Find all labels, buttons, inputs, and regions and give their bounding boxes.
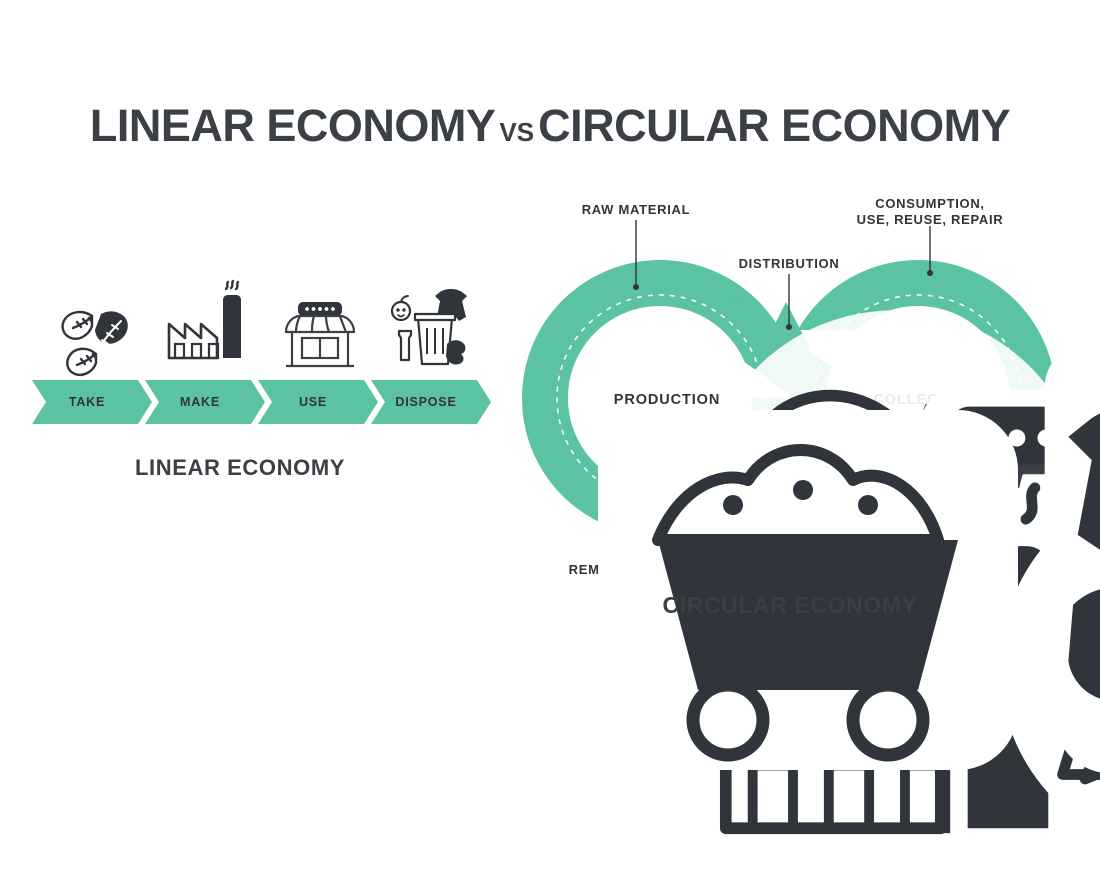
factory-icon: [159, 272, 255, 372]
title-vs: VS: [495, 117, 538, 147]
linear-economy-caption: LINEAR ECONOMY: [20, 455, 460, 481]
circular-economy-section: PRODUCTION COLLECTION RAW MATERIAL DISTR…: [500, 180, 1080, 610]
linear-step-use[interactable]: USE: [258, 380, 378, 424]
linear-step-label: DISPOSE: [395, 395, 456, 409]
infographic-canvas: LINEAR ECONOMYVSCIRCULAR ECONOMY: [0, 0, 1100, 733]
linear-step-take[interactable]: TAKE: [32, 380, 152, 424]
linear-step-make[interactable]: MAKE: [145, 380, 265, 424]
shop-icon: [272, 284, 368, 384]
linear-step-label: TAKE: [69, 395, 105, 409]
title-left: LINEAR ECONOMY: [90, 100, 496, 151]
waste-icon: [385, 276, 481, 376]
linear-step-label: MAKE: [180, 395, 220, 409]
label-raw-material: RAW MATERIAL: [556, 202, 716, 218]
leaves-icon: [46, 286, 142, 386]
circular-economy-caption: CIRCULAR ECONOMY: [560, 592, 1020, 619]
linear-step-bar: TAKE MAKE USE DISPOSE: [32, 380, 502, 424]
linear-icon-row: [20, 270, 500, 375]
title-right: CIRCULAR ECONOMY: [538, 100, 1010, 151]
page-title: LINEAR ECONOMYVSCIRCULAR ECONOMY: [0, 100, 1100, 152]
linear-step-label: USE: [299, 395, 327, 409]
label-consumption-use-reuse-repair: CONSUMPTION, USE, REUSE, REPAIR: [850, 196, 1010, 229]
label-distribution: DISTRIBUTION: [709, 256, 869, 272]
linear-economy-section: TAKE MAKE USE DISPOSE LINEAR ECONOMY: [20, 270, 500, 520]
linear-step-dispose[interactable]: DISPOSE: [371, 380, 491, 424]
